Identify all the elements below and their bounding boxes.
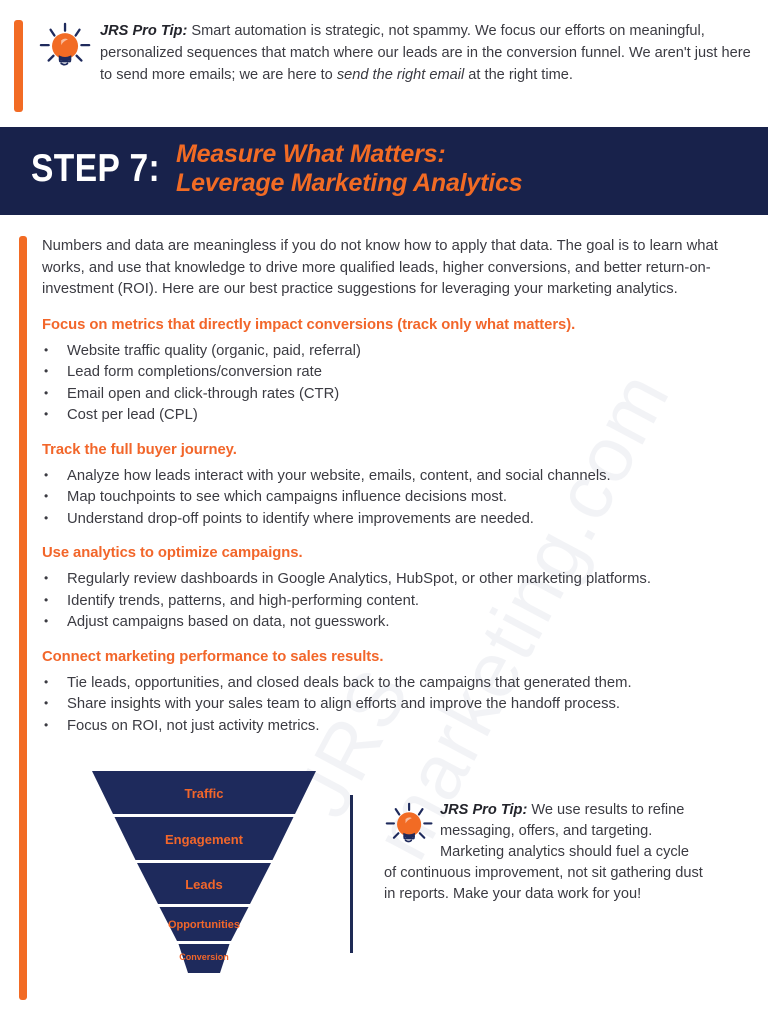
main-content: Numbers and data are meaningless if you … — [42, 236, 758, 737]
step-number: STEP 7: — [31, 147, 160, 191]
step-banner: STEP 7: Measure What Matters: Leverage M… — [0, 127, 768, 215]
protip-bottom-body: JRS Pro Tip: We use results to refine me… — [384, 800, 704, 905]
list-item: Cost per lead (CPL) — [42, 405, 748, 426]
list-item: Adjust campaigns based on data, not gues… — [42, 612, 748, 633]
list-item: Analyze how leads interact with your web… — [42, 466, 748, 487]
bullet-list-3: Regularly review dashboards in Google An… — [42, 569, 758, 633]
list-item: Website traffic quality (organic, paid, … — [42, 341, 748, 362]
step-title-line2: Leverage Marketing Analytics — [176, 169, 736, 198]
protip-top-text-italic: send the right email — [337, 67, 464, 83]
list-item: Share insights with your sales team to a… — [42, 694, 748, 715]
section-heading-4: Connect marketing performance to sales r… — [42, 649, 758, 665]
funnel-label-engagement: Engagement — [165, 832, 244, 847]
funnel-label-opportunities: Opportunities — [168, 919, 240, 931]
funnel-label-traffic: Traffic — [184, 786, 223, 801]
section-heading-3: Use analytics to optimize campaigns. — [42, 545, 758, 561]
protip-top-text: JRS Pro Tip: Smart automation is strateg… — [38, 20, 754, 86]
protip-top-accent-bar — [14, 20, 23, 112]
list-item: Map touchpoints to see which campaigns i… — [42, 487, 748, 508]
list-item: Email open and click-through rates (CTR) — [42, 384, 748, 405]
intro-paragraph: Numbers and data are meaningless if you … — [42, 236, 752, 301]
lightbulb-icon — [384, 802, 436, 852]
bullet-list-1: Website traffic quality (organic, paid, … — [42, 341, 758, 426]
protip-bottom-block: JRS Pro Tip: We use results to refine me… — [350, 795, 742, 955]
list-item: Tie leads, opportunities, and closed dea… — [42, 673, 748, 694]
section-heading-1: Focus on metrics that directly impact co… — [42, 317, 758, 333]
section-heading-2: Track the full buyer journey. — [42, 442, 758, 458]
protip-top-body: JRS Pro Tip: Smart automation is strateg… — [38, 20, 754, 86]
list-item: Identify trends, patterns, and high-perf… — [42, 591, 748, 612]
protip-top-lead: JRS Pro Tip: — [100, 23, 187, 39]
step-title: Measure What Matters: Leverage Marketing… — [176, 140, 736, 198]
step-title-line1: Measure What Matters: — [176, 140, 736, 169]
protip-top-block: JRS Pro Tip: Smart automation is strateg… — [14, 20, 754, 112]
marketing-funnel-diagram: Traffic Engagement Leads Opportunities C… — [92, 771, 316, 981]
list-item: Lead form completions/conversion rate — [42, 362, 748, 383]
list-item: Focus on ROI, not just activity metrics. — [42, 716, 748, 737]
lightbulb-icon — [38, 22, 94, 76]
protip-top-text-part2: at the right time. — [464, 67, 573, 83]
list-item: Regularly review dashboards in Google An… — [42, 569, 748, 590]
bullet-list-2: Analyze how leads interact with your web… — [42, 466, 758, 530]
funnel-label-conversion: Conversion — [179, 952, 229, 962]
list-item: Understand drop-off points to identify w… — [42, 509, 748, 530]
document-page: JRS marketing.com — [0, 0, 768, 1024]
funnel-label-leads: Leads — [185, 877, 223, 892]
protip-bottom-lead: JRS Pro Tip: — [440, 802, 527, 818]
bullet-list-4: Tie leads, opportunities, and closed dea… — [42, 673, 758, 737]
protip-bottom-divider — [350, 795, 353, 953]
content-accent-bar — [19, 236, 27, 1000]
